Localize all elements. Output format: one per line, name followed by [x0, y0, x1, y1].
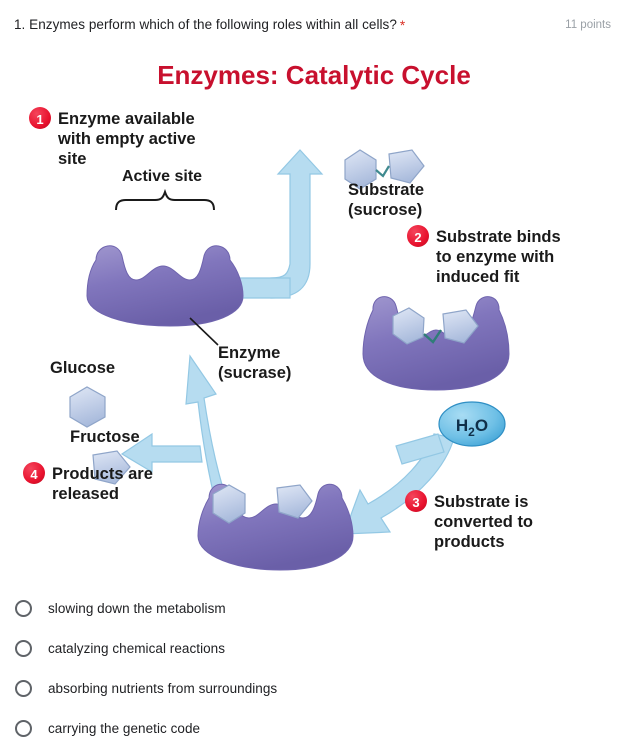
- svg-text:3: 3: [412, 495, 419, 510]
- enzyme-empty-active-site: [87, 246, 243, 326]
- enzyme-label-line1: Enzyme: [218, 344, 280, 362]
- enzyme-with-products: [198, 484, 353, 570]
- option-label-1: catalyzing chemical reactions: [48, 641, 225, 656]
- glucose-molecule: [70, 387, 105, 427]
- step-2-label-line1: Substrate binds: [436, 228, 561, 246]
- step-2-label-line3: induced fit: [436, 268, 520, 286]
- option-row-2[interactable]: absorbing nutrients from surroundings: [0, 668, 629, 708]
- substrate-label-line1: Substrate: [348, 181, 424, 199]
- svg-text:2: 2: [414, 230, 421, 245]
- required-asterisk: *: [400, 18, 405, 33]
- radio-button-icon[interactable]: [15, 600, 32, 617]
- glucose-label: Glucose: [50, 359, 115, 377]
- enzyme-with-bound-substrate: [363, 297, 509, 390]
- svg-text:1: 1: [36, 112, 43, 127]
- option-row-0[interactable]: slowing down the metabolism: [0, 588, 629, 628]
- step-1-label-line2: with empty active: [57, 130, 196, 148]
- enzyme-label-line2: (sucrase): [218, 364, 291, 382]
- radio-button-icon[interactable]: [15, 680, 32, 697]
- step-4-label-line2: released: [52, 485, 119, 503]
- option-row-1[interactable]: catalyzing chemical reactions: [0, 628, 629, 668]
- option-label-3: carrying the genetic code: [48, 721, 200, 736]
- option-label-0: slowing down the metabolism: [48, 601, 226, 616]
- option-label-2: absorbing nutrients from surroundings: [48, 681, 277, 696]
- step-1-label-line1: Enzyme available: [58, 110, 195, 128]
- step-3-label-line1: Substrate is: [434, 493, 528, 511]
- enzyme-catalytic-cycle-diagram: Enzymes: Catalytic Cycle Active site: [0, 42, 629, 582]
- water-label-h: H: [456, 416, 468, 435]
- step-1-badge: 1: [29, 107, 51, 129]
- fructose-label: Fructose: [70, 428, 140, 446]
- water-molecule-bubble: H2O: [439, 402, 505, 446]
- points-label: 11 points: [565, 19, 615, 31]
- substrate-label-line2: (sucrose): [348, 201, 422, 219]
- question-title: 1. Enzymes perform which of the followin…: [14, 16, 397, 34]
- step-4-label-line1: Products are: [52, 465, 153, 483]
- step-3-label-line3: products: [434, 533, 505, 551]
- svg-text:4: 4: [30, 467, 38, 482]
- step-3-label-line2: converted to: [434, 513, 533, 531]
- step-1-label-line3: site: [58, 150, 86, 168]
- radio-button-icon[interactable]: [15, 640, 32, 657]
- answer-options-list: slowing down the metabolism catalyzing c…: [0, 588, 629, 748]
- diagram-title: Enzymes: Catalytic Cycle: [157, 60, 471, 90]
- step-3-badge: 3: [405, 490, 427, 512]
- step-2-label-line2: to enzyme with: [436, 248, 554, 266]
- question-header: 1. Enzymes perform which of the followin…: [0, 0, 629, 40]
- option-row-3[interactable]: carrying the genetic code: [0, 708, 629, 748]
- water-label-o: O: [475, 416, 488, 435]
- active-site-label: Active site: [122, 168, 202, 185]
- step-4-badge: 4: [23, 462, 45, 484]
- active-site-bracket: [116, 192, 214, 210]
- arrow-step1-to-step2: [271, 150, 322, 298]
- radio-button-icon[interactable]: [15, 720, 32, 737]
- step-2-badge: 2: [407, 225, 429, 247]
